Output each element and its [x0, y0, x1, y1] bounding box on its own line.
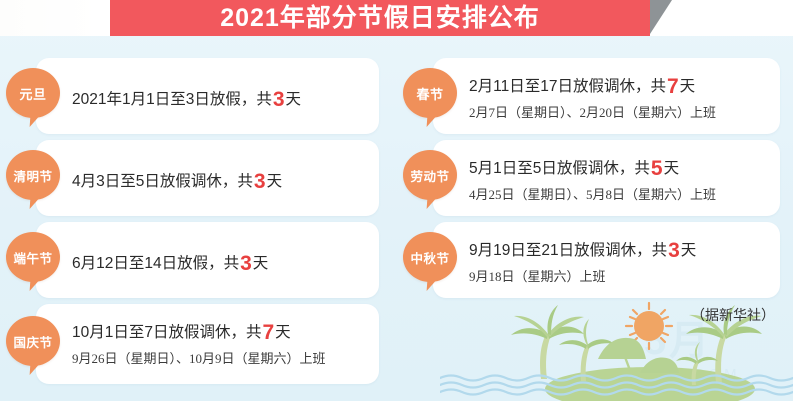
holiday-text-prefix: 5月1日至5日放假调休，共 — [469, 160, 650, 177]
holiday-text-prefix: 2月11日至17日放假调休，共 — [469, 78, 666, 95]
ribbon-fold-shape — [650, 0, 672, 34]
holiday-badge-guoqingjie: 国庆节 — [6, 316, 60, 366]
badge-label: 元旦 — [19, 84, 46, 103]
badge-label: 清明节 — [13, 166, 52, 185]
holiday-card: 5月1日至5日放假调休，共5天 4月25日（星期日）、5月8日（星期六）上班 — [433, 140, 780, 216]
holiday-days-count: 7 — [666, 75, 680, 98]
holiday-text-suffix: 天 — [275, 324, 291, 341]
badge-label: 国庆节 — [13, 332, 52, 351]
holiday-days-count: 7 — [261, 321, 275, 344]
holiday-detail-line: 9月19日至21日放假调休，共3天 — [469, 238, 696, 263]
holiday-card: 9月19日至21日放假调休，共3天 9月18日（星期六）上班 — [433, 222, 780, 298]
badge-label: 中秋节 — [410, 248, 449, 267]
holiday-text-suffix: 天 — [253, 255, 269, 272]
badge-label: 劳动节 — [410, 166, 449, 185]
holiday-days-count: 5 — [650, 157, 664, 180]
holiday-days-count: 3 — [272, 88, 286, 111]
badge-label: 春节 — [416, 84, 443, 103]
holiday-workday-note: 9月18日（星期六）上班 — [469, 266, 606, 285]
holiday-text-suffix: 天 — [286, 91, 302, 108]
holiday-card: 2月11日至17日放假调休，共7天 2月7日（星期日）、2月20日（星期六）上班 — [433, 58, 780, 134]
holiday-text-suffix: 天 — [267, 173, 283, 190]
holiday-text-prefix: 2021年1月1日至3日放假，共 — [72, 91, 272, 108]
holiday-detail-line: 6月12日至14日放假，共3天 — [72, 251, 268, 276]
holiday-days-count: 3 — [253, 170, 267, 193]
holiday-detail-line: 2021年1月1日至3日放假，共3天 — [72, 87, 301, 112]
holiday-badge-duanwujie: 端午节 — [6, 232, 60, 282]
holiday-workday-note: 9月26日（星期日）、10月9日（星期六）上班 — [72, 348, 326, 367]
holiday-card: 4月3日至5日放假调休，共3天 — [36, 140, 379, 216]
holiday-badge-qingmingjie: 清明节 — [6, 150, 60, 200]
badge-label: 端午节 — [13, 248, 52, 267]
holiday-card: 10月1日至7日放假调休，共7天 9月26日（星期日）、10月9日（星期六）上班 — [36, 304, 379, 384]
holiday-card: 6月12日至14日放假，共3天 — [36, 222, 379, 298]
holiday-text-suffix: 天 — [681, 242, 697, 259]
holiday-detail-line: 5月1日至5日放假调休，共5天 — [469, 156, 679, 181]
holiday-badge-laodongjie: 劳动节 — [403, 150, 457, 200]
holiday-workday-note: 4月25日（星期日）、5月8日（星期六）上班 — [469, 184, 716, 203]
holiday-detail-line: 4月3日至5日放假调休，共3天 — [72, 169, 282, 194]
water-waves — [440, 373, 793, 399]
holiday-text-prefix: 10月1日至7日放假调休，共 — [72, 324, 261, 341]
holiday-text-prefix: 9月19日至21日放假调休，共 — [469, 242, 667, 259]
holiday-text-prefix: 6月12日至14日放假，共 — [72, 255, 239, 272]
holiday-badge-chunjie: 春节 — [403, 68, 457, 118]
holiday-days-count: 3 — [239, 252, 253, 275]
holiday-text-suffix: 天 — [664, 160, 680, 177]
infographic-root: 2021年部分节假日安排公布 2021年1月1日至3日放假，共3天 元旦 4月3… — [0, 0, 793, 401]
source-attribution: （据新华社） — [691, 305, 775, 325]
holiday-days-count: 3 — [667, 239, 681, 262]
holiday-text-prefix: 4月3日至5日放假调休，共 — [72, 173, 253, 190]
holiday-detail-line: 2月11日至17日放假调休，共7天 — [469, 74, 695, 99]
holiday-card: 2021年1月1日至3日放假，共3天 — [36, 58, 379, 134]
title-ribbon: 2021年部分节假日安排公布 — [110, 0, 650, 36]
banner-backdrop-left-fade — [0, 0, 100, 36]
holiday-badge-zhongqiujie: 中秋节 — [403, 232, 457, 282]
holiday-text-suffix: 天 — [680, 78, 696, 95]
holiday-badge-yuandan: 元旦 — [6, 68, 60, 118]
holiday-workday-note: 2月7日（星期日）、2月20日（星期六）上班 — [469, 102, 716, 121]
holiday-detail-line: 10月1日至7日放假调休，共7天 — [72, 320, 291, 345]
page-title: 2021年部分节假日安排公布 — [110, 0, 650, 36]
